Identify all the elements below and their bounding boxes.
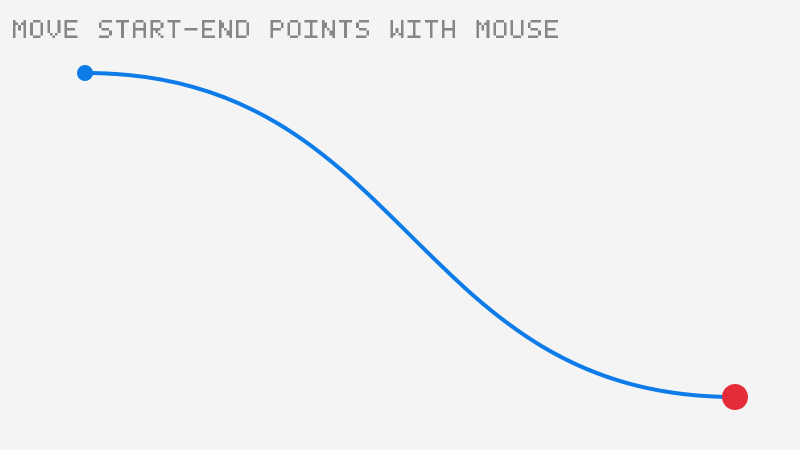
bezier-curve-canvas[interactable] (0, 0, 800, 450)
start-handle-blue-dot[interactable] (77, 65, 93, 81)
canvas-stage (0, 0, 800, 450)
bezier-curve-line[interactable] (85, 73, 735, 397)
end-handle-red-dot[interactable] (722, 384, 748, 410)
